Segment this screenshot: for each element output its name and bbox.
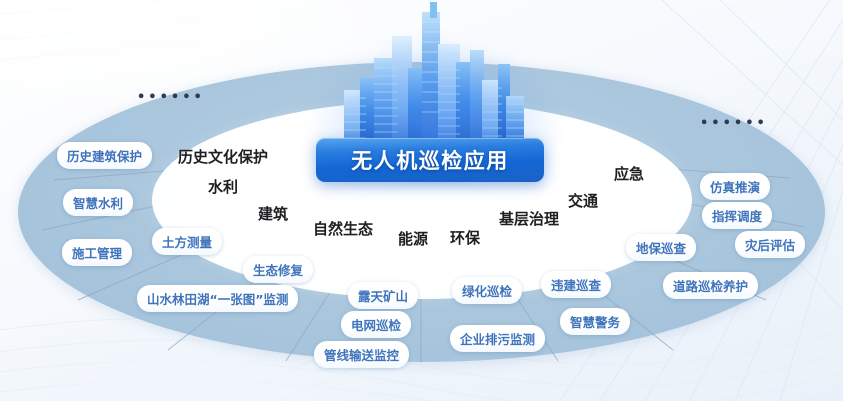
application-pill[interactable]: 电网巡检 <box>341 311 411 338</box>
infographic-canvas: 无人机巡检应用 •••••• •••••• 历史文化保护水利建筑自然生态能源环保… <box>0 0 843 401</box>
application-pill[interactable]: 道路巡检养护 <box>663 272 758 299</box>
category-label[interactable]: 建筑 <box>258 203 288 224</box>
application-pill[interactable]: 仿真推演 <box>700 173 770 200</box>
category-label[interactable]: 水利 <box>208 176 238 197</box>
center-title-text: 无人机巡检应用 <box>351 145 509 175</box>
category-label[interactable]: 自然生态 <box>313 218 373 239</box>
application-pill[interactable]: 历史建筑保护 <box>57 142 152 169</box>
application-pill[interactable]: 绿化巡检 <box>452 277 522 304</box>
ellipsis-dots-right: •••••• <box>700 116 768 131</box>
center-title-banner[interactable]: 无人机巡检应用 <box>316 138 544 182</box>
category-label[interactable]: 基层治理 <box>499 208 559 229</box>
application-pill[interactable]: 露天矿山 <box>348 282 418 309</box>
application-pill[interactable]: 智慧警务 <box>560 308 630 335</box>
category-label[interactable]: 应急 <box>614 163 644 184</box>
application-pill[interactable]: 生态修复 <box>243 256 313 283</box>
application-pill[interactable]: 山水林田湖“一张图”监测 <box>137 285 298 312</box>
application-pill[interactable]: 土方测量 <box>152 228 222 255</box>
category-label[interactable]: 环保 <box>450 227 480 248</box>
application-pill[interactable]: 灾后评估 <box>735 231 805 258</box>
category-label[interactable]: 历史文化保护 <box>178 146 268 167</box>
application-pill[interactable]: 指挥调度 <box>702 202 772 229</box>
application-pill[interactable]: 企业排污监测 <box>450 325 545 352</box>
application-pill[interactable]: 管线输送监控 <box>314 341 409 368</box>
application-pill[interactable]: 智慧水利 <box>63 189 133 216</box>
category-label[interactable]: 能源 <box>398 228 428 249</box>
application-pill[interactable]: 施工管理 <box>62 239 132 266</box>
application-pill[interactable]: 地保巡查 <box>626 234 696 261</box>
application-pill[interactable]: 违建巡查 <box>541 271 611 298</box>
category-label[interactable]: 交通 <box>568 190 598 211</box>
ellipsis-dots-left: •••••• <box>137 90 205 105</box>
